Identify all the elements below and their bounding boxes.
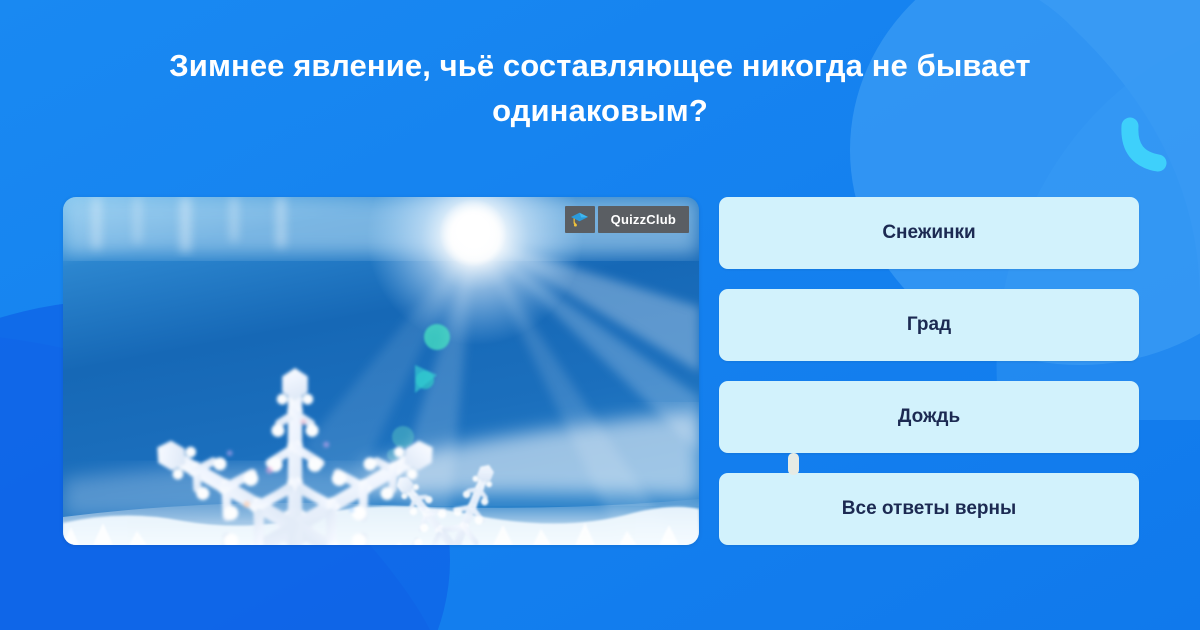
graduation-cap-glyph xyxy=(570,211,589,228)
page-title: Зимнее явление, чьё составляющее никогда… xyxy=(90,44,1110,134)
answer-option-2-label: Град xyxy=(907,314,951,336)
answer-option-1-label: Снежинки xyxy=(882,222,975,244)
snowflake-photo xyxy=(63,197,699,545)
answer-option-3-label: Дождь xyxy=(898,406,960,428)
answer-option-2[interactable]: Град xyxy=(719,289,1139,361)
answer-option-4[interactable]: Все ответы верны xyxy=(719,473,1139,545)
question-image-card: QuizzClub xyxy=(63,197,699,545)
answer-option-4-label: Все ответы верны xyxy=(842,498,1016,520)
scroll-handle[interactable] xyxy=(788,453,799,475)
question-title-container: Зимнее явление, чьё составляющее никогда… xyxy=(0,44,1200,134)
watermark-brand: QuizzClub xyxy=(598,206,689,233)
graduation-cap-icon xyxy=(565,206,595,233)
answer-options-list: Снежинки Град Дождь Все ответы верны xyxy=(719,197,1139,545)
answer-option-1[interactable]: Снежинки xyxy=(719,197,1139,269)
answer-option-3[interactable]: Дождь xyxy=(719,381,1139,453)
watermark: QuizzClub xyxy=(565,206,689,233)
